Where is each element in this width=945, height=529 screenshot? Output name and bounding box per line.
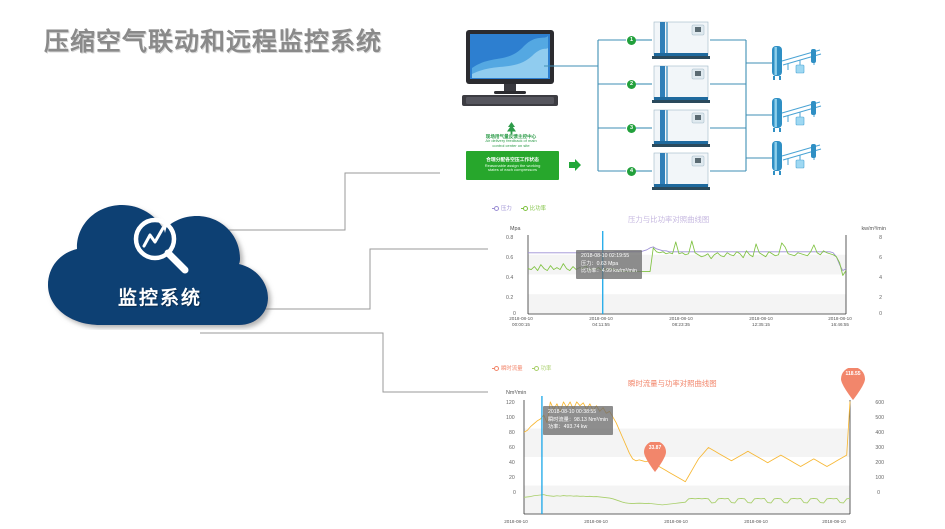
compressor-node-2[interactable]: 2 — [627, 80, 636, 89]
air-compressor-1[interactable] — [652, 20, 710, 60]
flow-xtick-0: 2018-08-10 — [486, 519, 546, 525]
pressure-xtick-1-date: 2018-08-10 — [589, 316, 613, 321]
tooltip-line-1: 压力：0.63 Mpa — [581, 261, 637, 269]
flow-min-marker-value: 33.87 — [643, 445, 667, 451]
flow-tooltip-timestamp: 2018-08-10 00:38:55 — [548, 409, 608, 417]
air-tank-pipeline-3[interactable] — [770, 138, 828, 178]
compressor-node-3[interactable]: 3 — [627, 124, 636, 133]
pressure-xtick-3: 2018-08-10 12:35:15 — [731, 316, 791, 327]
pressure-xtick-1-time: 04:11:55 — [592, 322, 610, 327]
pressure-xtick-3-time: 12:35:15 — [752, 322, 770, 327]
pressure-xtick-4: 2018-08-10 16:46:55 — [810, 316, 870, 327]
cloud-label: 监控系统 — [30, 283, 290, 310]
air-tank-pipeline-1[interactable] — [770, 43, 828, 83]
pressure-xtick-4-date: 2018-08-10 — [828, 316, 852, 321]
tooltip-timestamp: 2018-08-10 02:19:55 — [581, 253, 637, 261]
slide-canvas: 压缩空气联动和远程监控系统 监控系统 — [0, 0, 945, 529]
air-compressor-4[interactable] — [652, 151, 710, 191]
pressure-xtick-2-time: 08:23:35 — [672, 322, 690, 327]
monitoring-cloud[interactable]: 监控系统 — [30, 195, 290, 330]
air-compressor-3[interactable] — [652, 108, 710, 148]
flow-min-marker[interactable]: 33.87 — [643, 442, 667, 472]
air-compressor-2[interactable] — [652, 64, 710, 104]
magnifier-chart-icon — [125, 213, 197, 277]
flow-chart-panel[interactable]: 瞬时流量 功率 瞬时流量与功率对照曲线图 Nm³/min 120 100 80 … — [488, 362, 888, 529]
tooltip-line-2: 比功率：4.99 kw/m³/min — [581, 268, 637, 276]
compressor-node-1[interactable]: 1 — [627, 36, 636, 45]
air-tank-pipeline-2[interactable] — [770, 95, 828, 135]
flow-tooltip-line-2: 功率：493.74 kw — [548, 424, 608, 432]
flow-max-marker-value: 118.55 — [840, 371, 866, 377]
pressure-chart-tooltip: 2018-08-10 02:19:55 压力：0.63 Mpa 比功率：4.99… — [576, 250, 642, 279]
system-diagram-panel: 现场用气量反馈主控中心 Air delivery feedback of mai… — [440, 18, 940, 203]
pressure-xtick-1: 2018-08-10 04:11:55 — [571, 316, 631, 327]
pressure-chart-plot[interactable] — [488, 202, 888, 330]
pressure-xtick-0-time: 00:00:15 — [512, 322, 530, 327]
pressure-xtick-2: 2018-08-10 08:23:35 — [651, 316, 711, 327]
pressure-xtick-4-time: 16:46:55 — [831, 322, 849, 327]
compressor-node-4[interactable]: 4 — [627, 167, 636, 176]
flow-xtick-4: 2018-08-10 — [804, 519, 864, 525]
pressure-xtick-0-date: 2018-08-10 — [509, 316, 533, 321]
flow-chart-tooltip: 2018-08-10 00:38:55 瞬时流量：98.13 Nm³/min 功… — [543, 406, 613, 435]
flow-xtick-2: 2018-08-10 — [646, 519, 706, 525]
pressure-xtick-3-date: 2018-08-10 — [749, 316, 773, 321]
pressure-xtick-2-date: 2018-08-10 — [669, 316, 693, 321]
flow-xtick-3: 2018-08-10 — [726, 519, 786, 525]
flow-xtick-1: 2018-08-10 — [566, 519, 626, 525]
pressure-xtick-0: 2018-08-10 00:00:15 — [491, 316, 551, 327]
flow-chart-plot[interactable] — [488, 362, 888, 529]
pressure-chart-panel[interactable]: 压力 比功率 压力与比功率对照曲线图 Mpa kw/m³/min 0.8 0.6… — [488, 202, 888, 330]
flow-tooltip-line-1: 瞬时流量：98.13 Nm³/min — [548, 417, 608, 425]
flow-max-marker[interactable]: 118.55 — [840, 368, 866, 400]
